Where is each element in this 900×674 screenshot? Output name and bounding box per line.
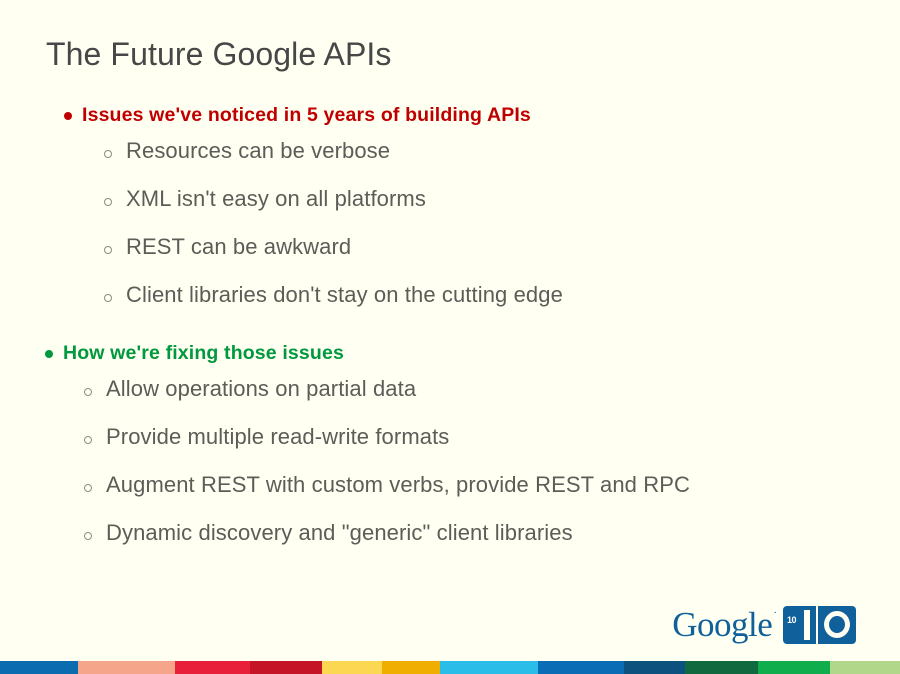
list-item: Dynamic discovery and "generic" client l…	[84, 516, 900, 550]
io-badge-year-label: 10	[787, 615, 796, 625]
page-title: The Future Google APIs	[46, 36, 392, 73]
color-bar-segment-red-bright	[175, 661, 250, 674]
trademark-icon: ·	[773, 607, 777, 619]
bullet-group-issues: Issues we've noticed in 5 years of build…	[0, 100, 900, 312]
google-io-logo: Google · 10	[672, 605, 856, 645]
sub-bullet-list-fixing: Allow operations on partial data Provide…	[0, 372, 900, 550]
io-badge-right	[818, 606, 856, 644]
list-item: XML isn't easy on all platforms	[104, 182, 900, 216]
bullet-ring-icon	[104, 134, 126, 163]
list-item-label: Provide multiple read-write formats	[106, 420, 449, 454]
color-bar-segment-yellow-light	[322, 661, 382, 674]
color-bar-segment-green	[758, 661, 830, 674]
color-bar-segment-green-dark	[685, 661, 758, 674]
color-bar-segment-yellow-deep	[382, 661, 440, 674]
list-item: Resources can be verbose	[104, 134, 900, 168]
list-item-label: Client libraries don't stay on the cutti…	[126, 278, 563, 312]
bullet-heading-issues: Issues we've noticed in 5 years of build…	[0, 100, 900, 130]
bullet-heading-label: How we're fixing those issues	[63, 338, 344, 368]
bullet-disc-icon	[62, 100, 82, 130]
google-wordmark: Google	[672, 607, 772, 642]
list-item-label: REST can be awkward	[126, 230, 351, 264]
io-badge-o-ring	[824, 611, 850, 638]
io-badge-left: 10	[783, 606, 816, 644]
list-item: Augment REST with custom verbs, provide …	[84, 468, 900, 502]
bullet-heading-label: Issues we've noticed in 5 years of build…	[82, 100, 531, 130]
bullet-disc-icon	[43, 338, 63, 368]
color-bar-segment-blue-mid	[538, 661, 624, 674]
list-item-label: XML isn't easy on all platforms	[126, 182, 426, 216]
color-bar-segment-blue-dark	[624, 661, 685, 674]
list-item-label: Augment REST with custom verbs, provide …	[106, 468, 690, 502]
bullet-ring-icon	[104, 182, 126, 211]
list-item: Provide multiple read-write formats	[84, 420, 900, 454]
list-item-label: Dynamic discovery and "generic" client l…	[106, 516, 573, 550]
color-bar-segment-salmon	[78, 661, 175, 674]
footer-color-bar	[0, 661, 900, 674]
list-item: REST can be awkward	[104, 230, 900, 264]
bullet-ring-icon	[84, 516, 106, 545]
list-item-label: Resources can be verbose	[126, 134, 390, 168]
sub-bullet-list-issues: Resources can be verbose XML isn't easy …	[0, 134, 900, 312]
bullet-group-fixing: How we're fixing those issues Allow oper…	[0, 338, 900, 550]
list-item: Client libraries don't stay on the cutti…	[104, 278, 900, 312]
color-bar-segment-blue	[0, 661, 78, 674]
io-badge-i-bar	[804, 610, 810, 640]
bullet-ring-icon	[84, 420, 106, 449]
io-badge-icon: 10	[783, 606, 856, 644]
slide: The Future Google APIs Issues we've noti…	[0, 0, 900, 674]
bullet-ring-icon	[84, 468, 106, 497]
bullet-ring-icon	[84, 372, 106, 401]
color-bar-segment-red-dark	[250, 661, 322, 674]
list-item-label: Allow operations on partial data	[106, 372, 416, 406]
bullet-ring-icon	[104, 278, 126, 307]
slide-body: Issues we've noticed in 5 years of build…	[0, 100, 900, 564]
list-item: Allow operations on partial data	[84, 372, 900, 406]
color-bar-segment-cyan	[440, 661, 538, 674]
bullet-heading-fixing: How we're fixing those issues	[0, 338, 900, 368]
bullet-ring-icon	[104, 230, 126, 259]
color-bar-segment-green-light	[830, 661, 900, 674]
